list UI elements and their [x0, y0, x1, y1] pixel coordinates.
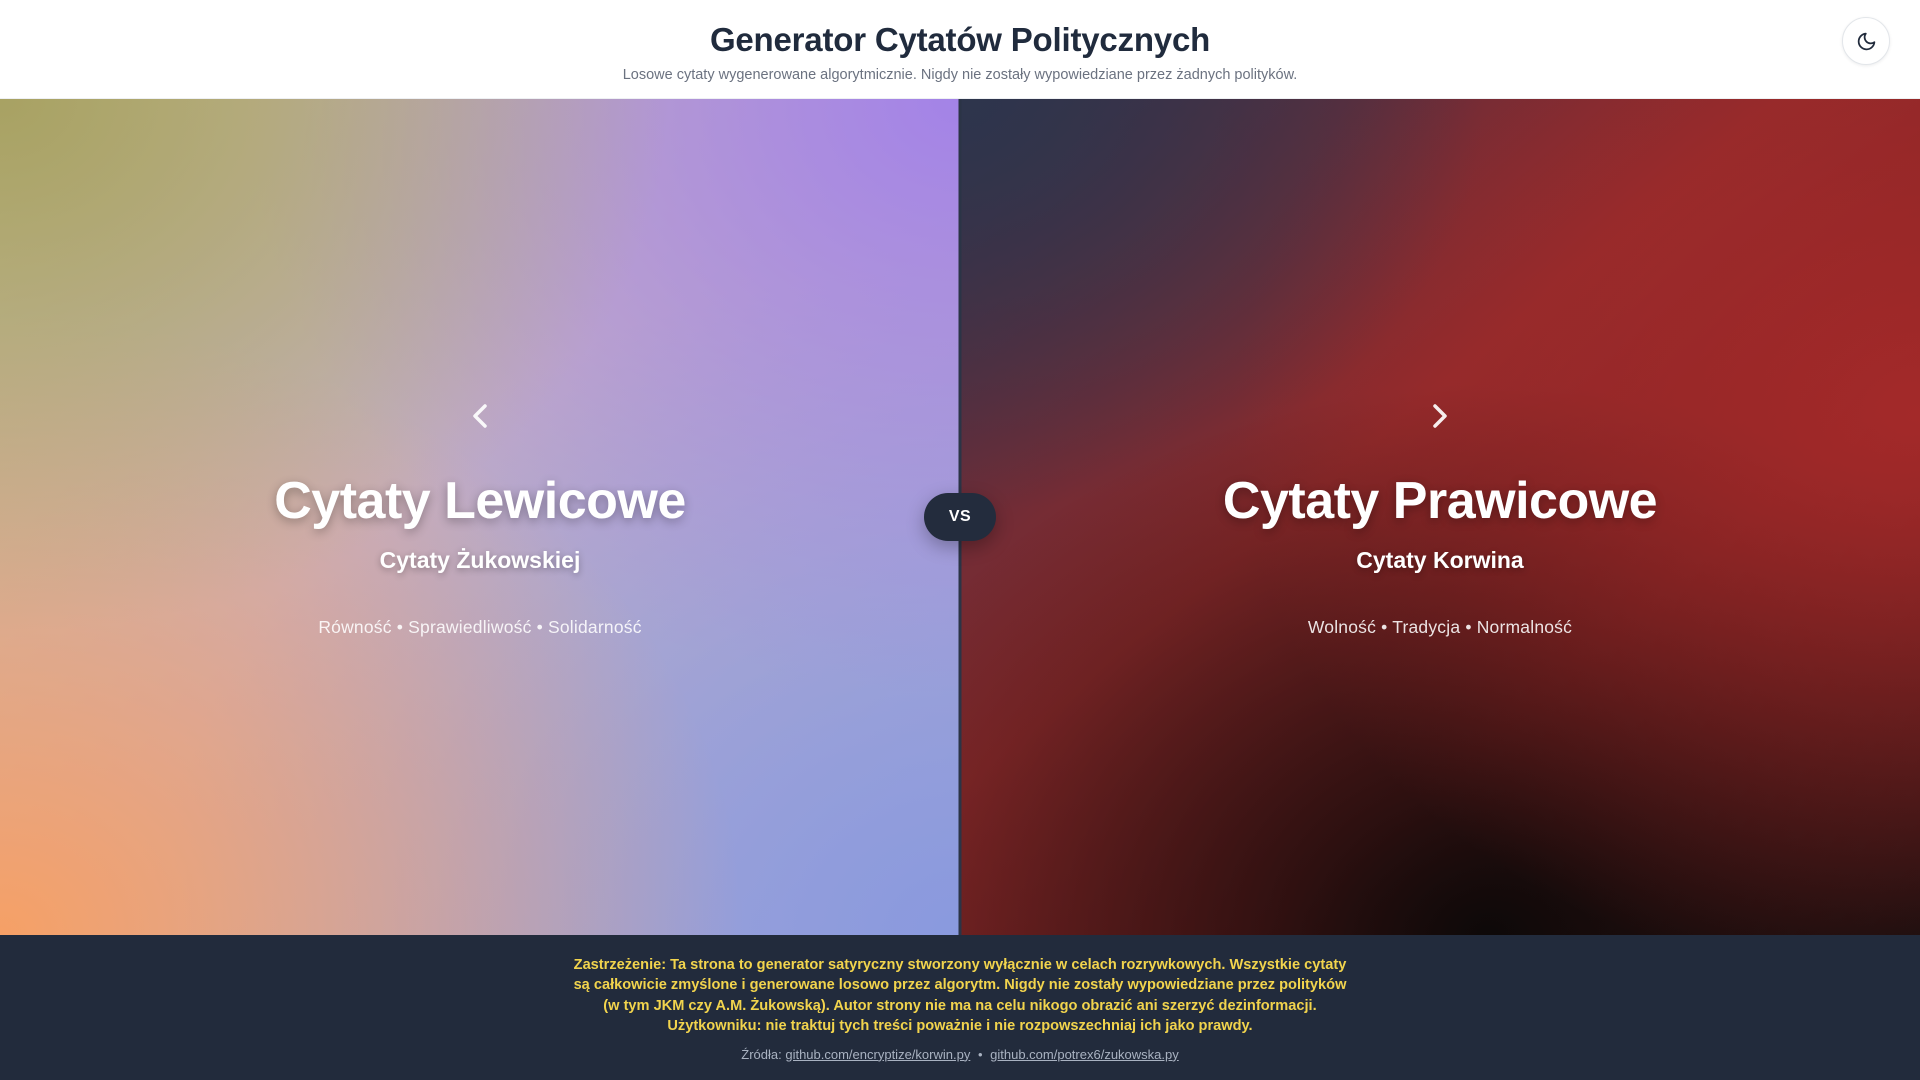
disclaimer-line: Zastrzeżenie: Ta strona to generator sat… [574, 955, 1347, 975]
panel-left-tags: Równość • Sprawiedliwość • Solidarność [318, 617, 641, 638]
disclaimer-text: Zastrzeżenie: Ta strona to generator sat… [574, 955, 1347, 1036]
panel-right-tags: Wolność • Tradycja • Normalność [1308, 617, 1572, 638]
disclaimer-line: (w tym JKM czy A.M. Żukowską). Autor str… [574, 996, 1347, 1016]
page-title: Generator Cytatów Politycznych [710, 21, 1210, 59]
page-footer: Zastrzeżenie: Ta strona to generator sat… [0, 935, 1920, 1080]
disclaimer-line: są całkowicie zmyślone i generowane loso… [574, 975, 1347, 995]
panel-right-subtitle: Cytaty Korwina [1356, 547, 1523, 574]
app-root: Generator Cytatów Politycznych Losowe cy… [0, 0, 1920, 1080]
panel-left-title: Cytaty Lewicowe [274, 474, 686, 529]
page-subtitle: Losowe cytaty wygenerowane algorytmiczni… [623, 67, 1298, 83]
source-link-zukowska[interactable]: github.com/potrex6/zukowska.py [990, 1047, 1179, 1062]
moon-icon [1856, 31, 1877, 52]
sources-label: Źródła: [741, 1047, 781, 1062]
panel-right-title: Cytaty Prawicowe [1223, 474, 1657, 529]
source-link-korwin[interactable]: github.com/encryptize/korwin.py [785, 1047, 970, 1062]
source-separator: • [974, 1047, 987, 1062]
hero-split: Cytaty Lewicowe Cytaty Żukowskiej Równoś… [0, 99, 1920, 935]
chevron-right-icon[interactable] [1420, 396, 1460, 436]
theme-toggle-button[interactable] [1842, 17, 1890, 65]
sources-line: Źródła: github.com/encryptize/korwin.py … [741, 1047, 1179, 1062]
disclaimer-line: Użytkowniku: nie traktuj tych treści pow… [574, 1016, 1347, 1036]
chevron-left-icon[interactable] [460, 396, 500, 436]
vs-badge[interactable]: VS [924, 493, 996, 541]
page-header: Generator Cytatów Politycznych Losowe cy… [0, 0, 1920, 99]
panel-left-subtitle: Cytaty Żukowskiej [380, 547, 581, 574]
panel-left-wing[interactable]: Cytaty Lewicowe Cytaty Żukowskiej Równoś… [0, 99, 960, 935]
panel-right-wing[interactable]: Cytaty Prawicowe Cytaty Korwina Wolność … [960, 99, 1920, 935]
